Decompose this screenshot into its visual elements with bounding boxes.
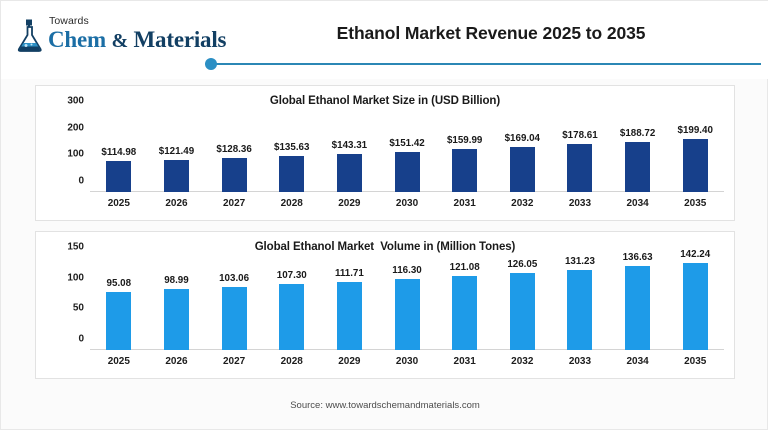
- source-caption: Source: www.towardschemandmaterials.com: [1, 400, 768, 411]
- bar[interactable]: [164, 160, 189, 192]
- accent-line: [213, 63, 761, 65]
- chart-panel-market-size: Global Ethanol Market Size in (USD Billi…: [35, 85, 735, 221]
- bar-value-label: $128.36: [205, 144, 263, 155]
- bar-value-label: $169.04: [493, 133, 551, 144]
- x-axis-market-volume: 2025202620272028202920302031203220332034…: [90, 352, 724, 374]
- x-tick-label: 2035: [666, 194, 724, 216]
- bar-slot: $178.61: [551, 112, 609, 192]
- x-tick-label: 2025: [90, 194, 148, 216]
- bar-slot: $128.36: [205, 112, 263, 192]
- brand-name-main: Chem & Materials: [48, 28, 226, 51]
- bar-value-label: $188.72: [609, 128, 667, 139]
- bar[interactable]: [222, 287, 247, 350]
- x-tick-label: 2033: [551, 352, 609, 374]
- bar-slot: 121.08: [436, 258, 494, 350]
- bar-group-market-size: $114.98$121.49$128.36$135.63$143.31$151.…: [90, 112, 724, 192]
- bar-slot: $159.99: [436, 112, 494, 192]
- bar-slot: 98.99: [148, 258, 206, 350]
- bar[interactable]: [106, 161, 131, 192]
- chart-panel-market-volume: Global Ethanol Market Volume in (Million…: [35, 231, 735, 379]
- bar-slot: 131.23: [551, 258, 609, 350]
- bar-value-label: $121.49: [148, 146, 206, 157]
- bar-value-label: 131.23: [551, 256, 609, 267]
- bar-slot: $121.49: [148, 112, 206, 192]
- bar[interactable]: [337, 282, 362, 351]
- bar[interactable]: [106, 292, 131, 350]
- bar-slot: $135.63: [263, 112, 321, 192]
- bar[interactable]: [452, 149, 477, 192]
- plot-area-market-size: 0100200300 $114.98$121.49$128.36$135.63$…: [36, 112, 734, 220]
- bar[interactable]: [337, 154, 362, 192]
- x-tick-label: 2028: [263, 194, 321, 216]
- bar-value-label: 142.24: [666, 249, 724, 260]
- bar-slot: 95.08: [90, 258, 148, 350]
- x-tick-label: 2028: [263, 352, 321, 374]
- bar-value-label: 121.08: [436, 262, 494, 273]
- bar-slot: $151.42: [378, 112, 436, 192]
- y-tick-market-volume: 0: [78, 334, 84, 345]
- bar-value-label: $178.61: [551, 130, 609, 141]
- bar[interactable]: [279, 284, 304, 350]
- bar-slot: $169.04: [493, 112, 551, 192]
- y-axis-market-size: 0100200300: [44, 112, 88, 192]
- bar-slot: 111.71: [321, 258, 379, 350]
- y-tick-market-volume: 100: [67, 272, 84, 283]
- plot-area-market-volume: 050100150 95.0898.99103.06107.30111.7111…: [36, 258, 734, 378]
- header: Towards Chem & Materials Ethanol Market …: [1, 1, 768, 79]
- bar[interactable]: [683, 263, 708, 350]
- bar-value-label: 116.30: [378, 265, 436, 276]
- accent-rule: [205, 58, 761, 70]
- bar-value-label: 98.99: [148, 275, 206, 286]
- bar-slot: $188.72: [609, 112, 667, 192]
- x-axis-market-size: 2025202620272028202920302031203220332034…: [90, 194, 724, 216]
- bar-value-label: 107.30: [263, 270, 321, 281]
- brand-name-chem: Chem: [48, 27, 112, 52]
- bar-value-label: 111.71: [321, 268, 379, 279]
- bar-slot: 142.24: [666, 258, 724, 350]
- bar[interactable]: [395, 152, 420, 192]
- x-tick-label: 2034: [609, 194, 667, 216]
- bar[interactable]: [164, 289, 189, 350]
- y-tick-market-size: 200: [67, 122, 84, 133]
- brand-name-materials: Materials: [128, 27, 226, 52]
- bar-value-label: $151.42: [378, 138, 436, 149]
- x-tick-label: 2033: [551, 194, 609, 216]
- brand-logo: Towards Chem & Materials: [15, 14, 226, 52]
- bar-value-label: $143.31: [321, 140, 379, 151]
- x-tick-label: 2034: [609, 352, 667, 374]
- bar[interactable]: [683, 139, 708, 192]
- x-tick-label: 2027: [205, 352, 263, 374]
- bar-value-label: 103.06: [205, 273, 263, 284]
- y-tick-market-volume: 50: [73, 303, 84, 314]
- y-tick-market-size: 0: [78, 176, 84, 187]
- chart-title-market-size: Global Ethanol Market Size in (USD Billi…: [36, 86, 734, 107]
- y-tick-market-size: 300: [67, 96, 84, 107]
- bar-value-label: $135.63: [263, 142, 321, 153]
- x-tick-label: 2026: [148, 352, 206, 374]
- x-tick-label: 2032: [493, 194, 551, 216]
- bar-value-label: $159.99: [436, 135, 494, 146]
- bar-slot: 126.05: [493, 258, 551, 350]
- flask-icon: [15, 18, 45, 52]
- y-tick-market-size: 100: [67, 149, 84, 160]
- bar-value-label: $114.98: [90, 147, 148, 158]
- brand-name-ampersand: &: [112, 30, 128, 52]
- y-axis-market-volume: 050100150: [44, 258, 88, 350]
- page-title: Ethanol Market Revenue 2025 to 2035: [241, 23, 741, 44]
- bar-value-label: 126.05: [493, 259, 551, 270]
- x-tick-label: 2027: [205, 194, 263, 216]
- bar[interactable]: [279, 156, 304, 192]
- bar[interactable]: [452, 276, 477, 350]
- bar[interactable]: [625, 266, 650, 350]
- bar-value-label: 136.63: [609, 252, 667, 263]
- infographic-page: Towards Chem & Materials Ethanol Market …: [0, 0, 768, 430]
- bar-value-label: 95.08: [90, 278, 148, 289]
- bar-slot: $199.40: [666, 112, 724, 192]
- bar-value-label: $199.40: [666, 125, 724, 136]
- brand-name-top: Towards: [48, 16, 226, 27]
- x-tick-label: 2026: [148, 194, 206, 216]
- x-tick-label: 2029: [321, 194, 379, 216]
- bar[interactable]: [510, 147, 535, 192]
- bar-group-market-volume: 95.0898.99103.06107.30111.71116.30121.08…: [90, 258, 724, 350]
- x-tick-label: 2031: [436, 194, 494, 216]
- x-tick-label: 2030: [378, 352, 436, 374]
- x-tick-label: 2031: [436, 352, 494, 374]
- chart-title-market-volume: Global Ethanol Market Volume in (Million…: [36, 232, 734, 253]
- bar-slot: 107.30: [263, 258, 321, 350]
- accent-dot-icon: [205, 58, 217, 70]
- bar-slot: $114.98: [90, 112, 148, 192]
- bar[interactable]: [222, 158, 247, 192]
- bar[interactable]: [510, 273, 535, 350]
- bar-slot: 136.63: [609, 258, 667, 350]
- x-tick-label: 2035: [666, 352, 724, 374]
- bar-slot: $143.31: [321, 112, 379, 192]
- y-tick-market-volume: 150: [67, 242, 84, 253]
- brand-logo-text: Towards Chem & Materials: [48, 14, 226, 51]
- x-tick-label: 2032: [493, 352, 551, 374]
- bar-slot: 103.06: [205, 258, 263, 350]
- bar[interactable]: [625, 142, 650, 192]
- bar[interactable]: [567, 144, 592, 192]
- x-tick-label: 2029: [321, 352, 379, 374]
- x-tick-label: 2025: [90, 352, 148, 374]
- x-tick-label: 2030: [378, 194, 436, 216]
- bar[interactable]: [395, 279, 420, 350]
- bar-slot: 116.30: [378, 258, 436, 350]
- bar[interactable]: [567, 270, 592, 350]
